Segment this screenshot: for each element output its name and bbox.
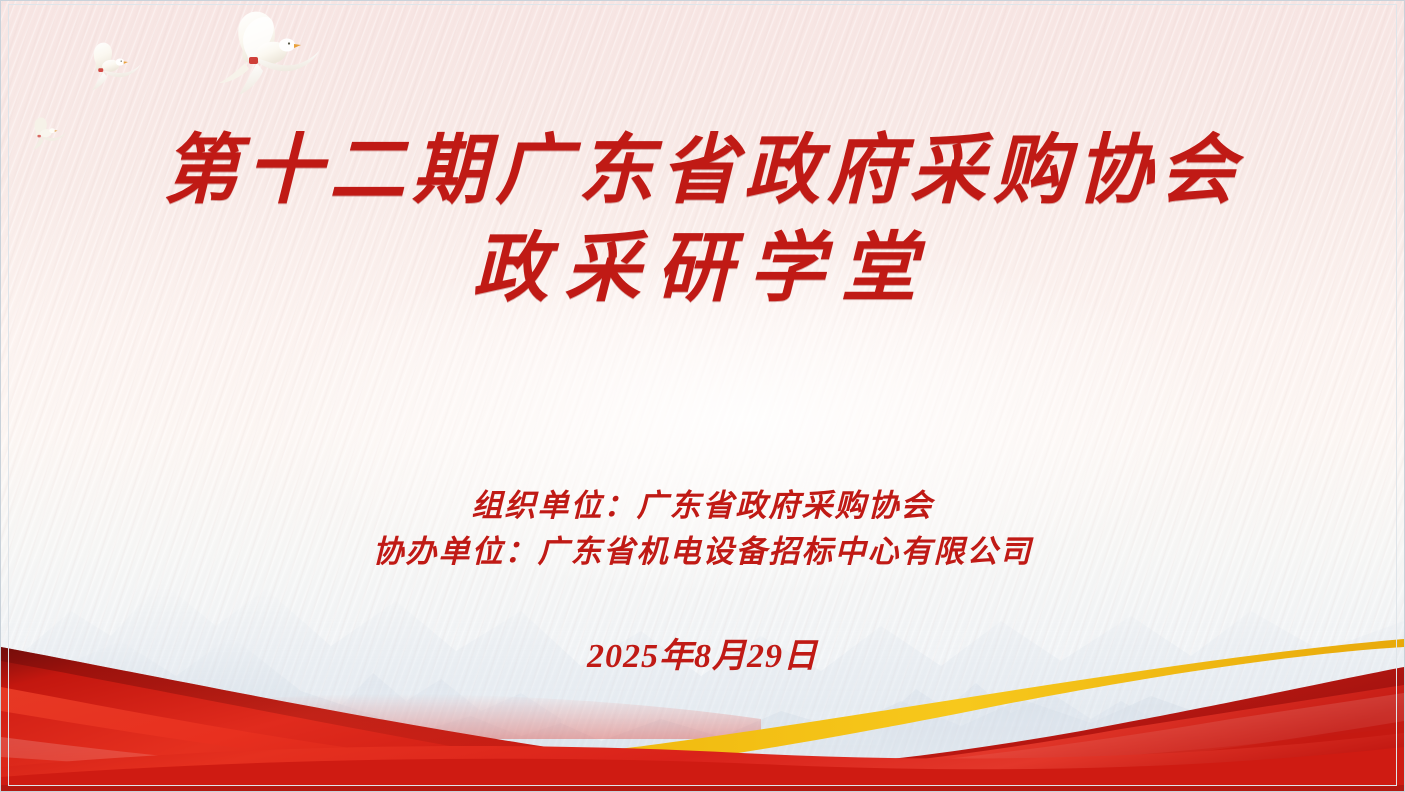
organizer-block: 组织单位：广东省政府采购协会 协办单位：广东省机电设备招标中心有限公司 [0,483,1405,575]
page-title: 第十二期广东省政府采购协会 政采研学堂 [0,122,1405,318]
title-line-2: 政采研学堂 [0,220,1405,318]
organizer-line: 组织单位：广东省政府采购协会 [0,483,1405,529]
event-date: 2025年8月29日 [0,628,1405,677]
presentation-slide: 第十二期广东省政府采购协会 政采研学堂 组织单位：广东省政府采购协会 协办单位：… [0,0,1405,792]
title-line-1: 第十二期广东省政府采购协会 [163,129,1242,213]
slide-content: 第十二期广东省政府采购协会 政采研学堂 组织单位：广东省政府采购协会 协办单位：… [0,0,1405,792]
co-organizer-line: 协办单位：广东省机电设备招标中心有限公司 [0,529,1405,575]
